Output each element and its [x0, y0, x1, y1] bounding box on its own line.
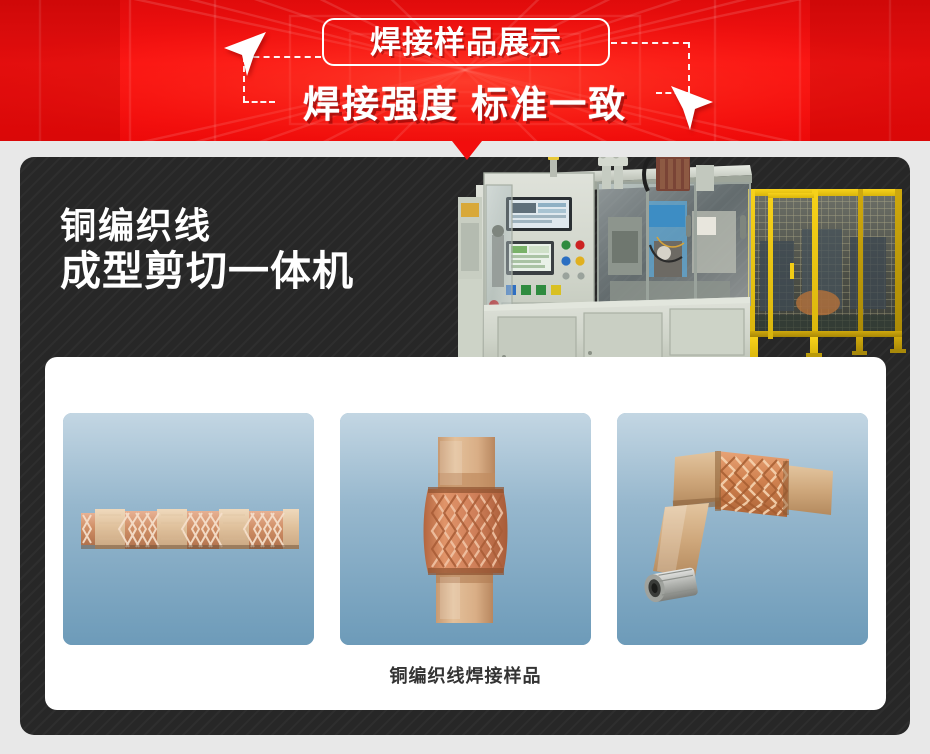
- page-root: 焊接样品展示 焊接强度 标准一致 铜编织线 成型剪切一体机: [0, 0, 930, 754]
- product-panel: 铜编织线 成型剪切一体机: [20, 157, 910, 735]
- sample-braid-block-vertical[interactable]: [340, 413, 591, 645]
- samples-card: 铜编织线焊接样品: [45, 357, 886, 710]
- banner-title-pill: 焊接样品展示: [322, 18, 610, 66]
- product-title-line2: 成型剪切一体机: [60, 247, 354, 295]
- product-title: 铜编织线 成型剪切一体机: [60, 205, 354, 296]
- down-triangle-icon: [452, 141, 482, 160]
- dashed-line-right-horizontal: [611, 42, 689, 44]
- safety-cage: [746, 189, 906, 362]
- samples-row: [63, 413, 868, 645]
- banner-subtitle: 焊接强度 标准一致: [0, 74, 930, 128]
- banner-title: 焊接样品展示: [370, 27, 562, 58]
- sample-braid-l-connector[interactable]: [617, 413, 868, 645]
- sample-braid-strip-horizontal[interactable]: [63, 413, 314, 645]
- gallery-caption: 铜编织线焊接样品: [45, 662, 886, 688]
- product-title-line1: 铜编织线: [60, 205, 354, 247]
- hero-banner: 焊接样品展示 焊接强度 标准一致: [0, 0, 930, 141]
